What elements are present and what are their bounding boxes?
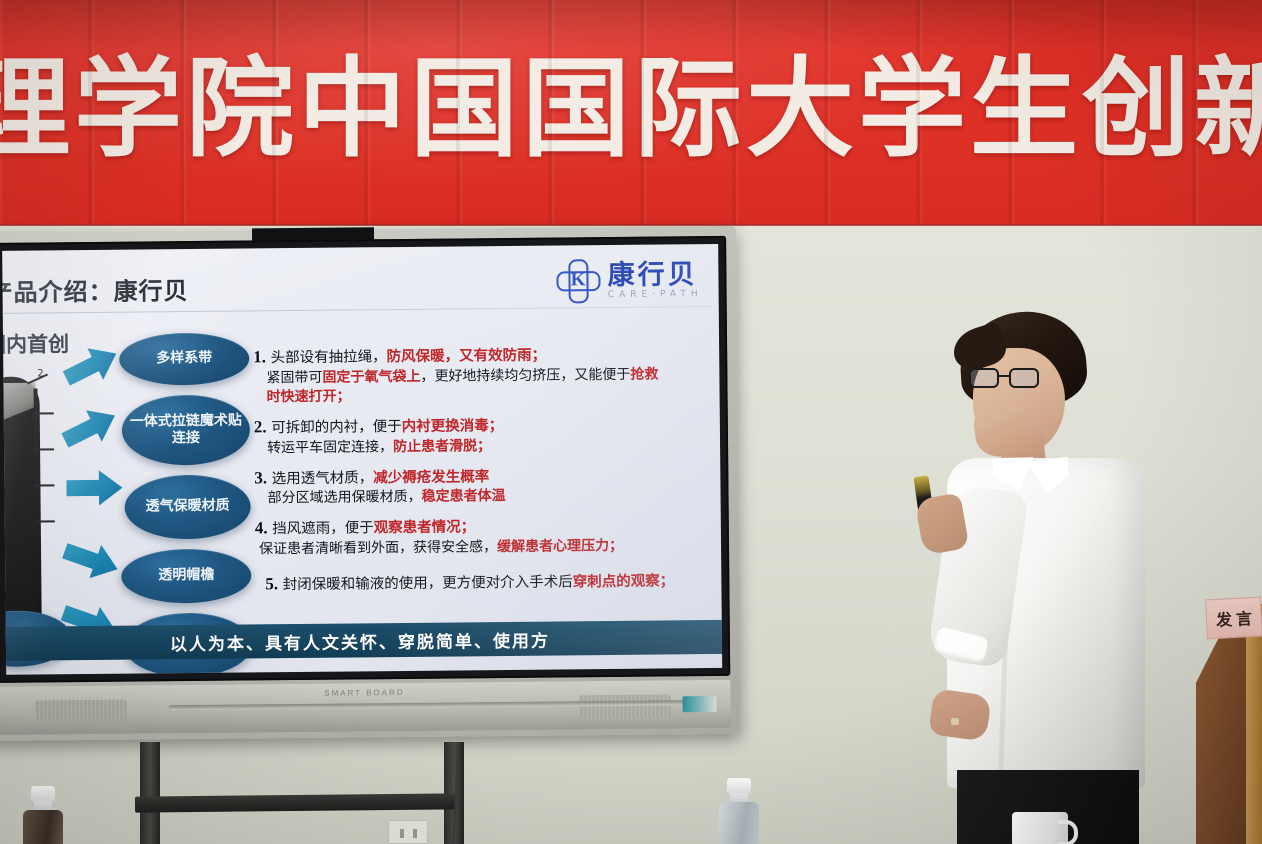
sign-char-1: 发 [1215,606,1232,631]
feature-oval-1: 多样系带 [119,332,249,385]
smartboard-display[interactable]: 产品介绍：康行贝 K 康行贝 CARE·PATH 国内首创 [0,226,741,741]
sign-char-2: 言 [1235,605,1252,630]
item-highlight: 穿刺点的观察； [573,574,675,591]
feature-list: 1. 头部设有抽拉绳，防风保暖，又有效防雨； 紧固带可固定于氧气袋上，更好地持续… [253,342,703,605]
item-text: 紧固带可 [266,370,322,387]
presenter-hand-lower [928,688,992,742]
product-photo: 2 [2,360,56,631]
item-text: 挡风遮雨，便于 [272,521,374,538]
item-number: 4. [255,519,268,538]
feature-oval-2: 一体式拉链魔术贴连接 [122,394,251,465]
item-text: 保证患者清晰看到外面，获得安全感， [259,539,497,557]
brand-logo: K 康行贝 CARE·PATH [556,258,702,303]
list-item-1: 1. 头部设有抽拉绳，防风保暖，又有效防雨； 紧固带可固定于氧气袋上，更好地持续… [253,342,702,407]
item-number: 1. [253,347,266,366]
item-text: 封闭保暖和输液的使用，更方便对介入手术后 [283,575,573,594]
flow-arrow-3 [66,468,122,509]
flow-arrow-1 [63,346,119,387]
logo-letter: K [571,269,586,291]
item-highlight: 缓解患者心理压力； [497,538,623,555]
item-number: 2. [254,417,267,436]
red-banner-backdrop: 理学院中国国际大学生创新大赛院赛 [0,0,1262,226]
slide-subheading: 国内首创 [2,328,69,359]
display-brand-label: SMART BOARD [324,688,404,698]
item-text: 转运平车固定连接， [267,439,393,456]
item-text: 可拆卸的内衬，便于 [271,419,402,436]
display-speaker-left [34,700,126,723]
paper-cup [1012,812,1068,844]
display-power-indicator[interactable] [682,696,716,712]
presenter-hand-upper [914,492,969,555]
finger-ring [951,718,959,725]
glasses-icon [969,368,1041,390]
feature-oval-4: 透明帽檐 [121,548,252,603]
item-text: 部分区域选用保暖材质， [267,489,421,506]
item-highlight: 抢救 [630,366,658,382]
speaker-sign: 发 言 [1205,597,1262,640]
list-item-5: 5. 封闭保暖和输液的使用，更方便对介入手术后穿刺点的观察； [255,569,703,596]
presentation-room-scene: 理学院中国国际大学生创新大赛院赛 产品介绍：康行贝 K [0,0,1262,844]
item-highlight: 减少褥疮发生概率 [373,469,489,486]
medical-cross-icon: K [556,259,600,303]
display-chin: SMART BOARD [0,680,731,735]
item-highlight: 观察患者情况； [374,520,476,537]
flow-arrow-4 [63,540,119,581]
list-item-4: 4. 挡风遮雨，便于观察患者情况； 保证患者清晰看到外面，获得安全感，缓解患者心… [255,514,703,560]
item-highlight: 稳定患者体温 [421,488,505,505]
list-item-2: 2. 可拆卸的内衬，便于内衬更换消毒； 转运平车固定连接，防止患者滑脱； [254,412,702,458]
logo-english-name: CARE·PATH [608,290,703,300]
slide-title: 产品介绍：康行贝 [2,271,189,308]
item-highlight: 时快速打开； [267,388,351,405]
item-text: 头部设有抽拉绳， [270,349,386,366]
podium-edge [1246,604,1262,844]
flow-arrow-2 [62,408,118,449]
presenter-person [905,300,1205,844]
item-highlight: 防止患者滑脱； [393,438,491,455]
banner-shading [0,0,1262,226]
feature-oval-3: 透气保暖材质 [124,474,251,539]
stand-leg-left [140,742,160,844]
presentation-slide: 产品介绍：康行贝 K 康行贝 CARE·PATH 国内首创 [2,244,722,675]
item-highlight: 固定于氧气袋上 [322,369,420,386]
stand-shelf [135,793,455,812]
product-callout-label: 2 [37,368,43,379]
list-item-3: 3. 选用透气材质，减少褥疮发生概率 部分区域选用保暖材质，稳定患者体温 [254,463,702,509]
display-inner-frame: 产品介绍：康行贝 K 康行贝 CARE·PATH 国内首创 [0,236,730,683]
item-number: 3. [254,468,267,487]
item-highlight: 内衬更换消毒； [402,418,504,435]
wall-outlet [388,820,428,844]
slide-bottom-banner: 以人为本、具有人文关怀、穿脱简单、使用方 [2,620,722,661]
item-text: 选用透气材质， [272,470,374,487]
item-highlight: 防风保暖，又有效防雨； [386,348,546,366]
item-number: 5. [265,574,278,593]
logo-chinese-name: 康行贝 [607,261,702,289]
banner-headline: 理学院中国国际大学生创新大赛院赛 [0,30,1262,190]
display-screen[interactable]: 产品介绍：康行贝 K 康行贝 CARE·PATH 国内首创 [2,244,722,675]
title-divider [2,306,711,314]
item-text: ，更好地持续均匀挤压，又能便于 [420,367,630,385]
